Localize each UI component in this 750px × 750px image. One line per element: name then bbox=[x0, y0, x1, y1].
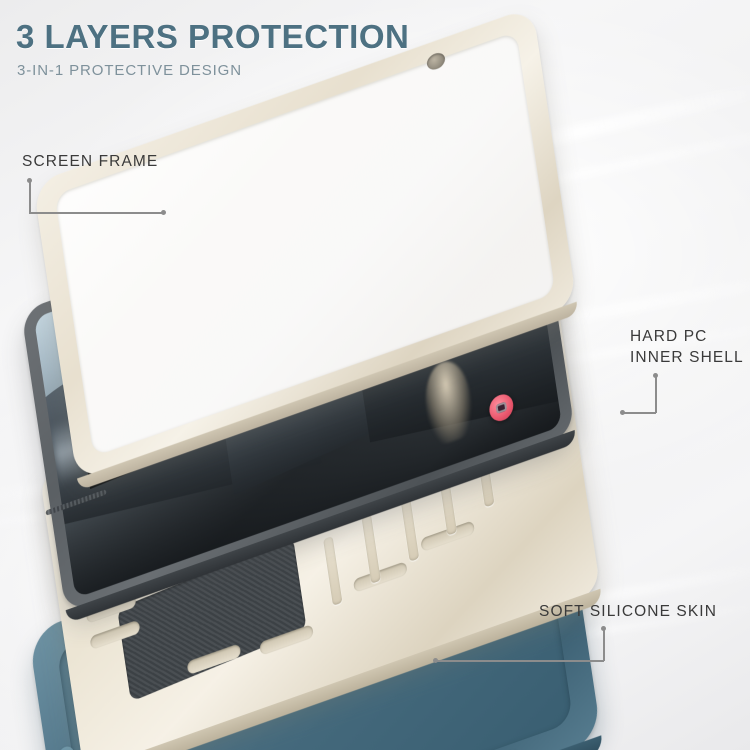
callout-screen-frame: SCREEN FRAME bbox=[22, 151, 158, 172]
callout-soft-silicone-skin: SOFT SILICONE SKIN bbox=[539, 601, 717, 622]
page-title: 3 LAYERS PROTECTION bbox=[16, 18, 409, 56]
product-exploded-view: 10:09 Mon, May 24 Swipe to unlock 3 LAYE… bbox=[0, 0, 750, 750]
layer-screen-frame bbox=[0, 0, 750, 750]
page-subtitle: 3-IN-1 PROTECTIVE DESIGN bbox=[17, 62, 242, 79]
screen-frame-opening bbox=[54, 31, 555, 457]
callout-label-line: SOFT SILICONE SKIN bbox=[539, 601, 717, 622]
callout-label-line: INNER SHELL bbox=[630, 347, 744, 368]
callout-label-line: HARD PC bbox=[630, 326, 744, 347]
callout-label-line: SCREEN FRAME bbox=[22, 151, 158, 172]
callout-hard-pc-inner-shell: HARD PC INNER SHELL bbox=[630, 326, 744, 368]
